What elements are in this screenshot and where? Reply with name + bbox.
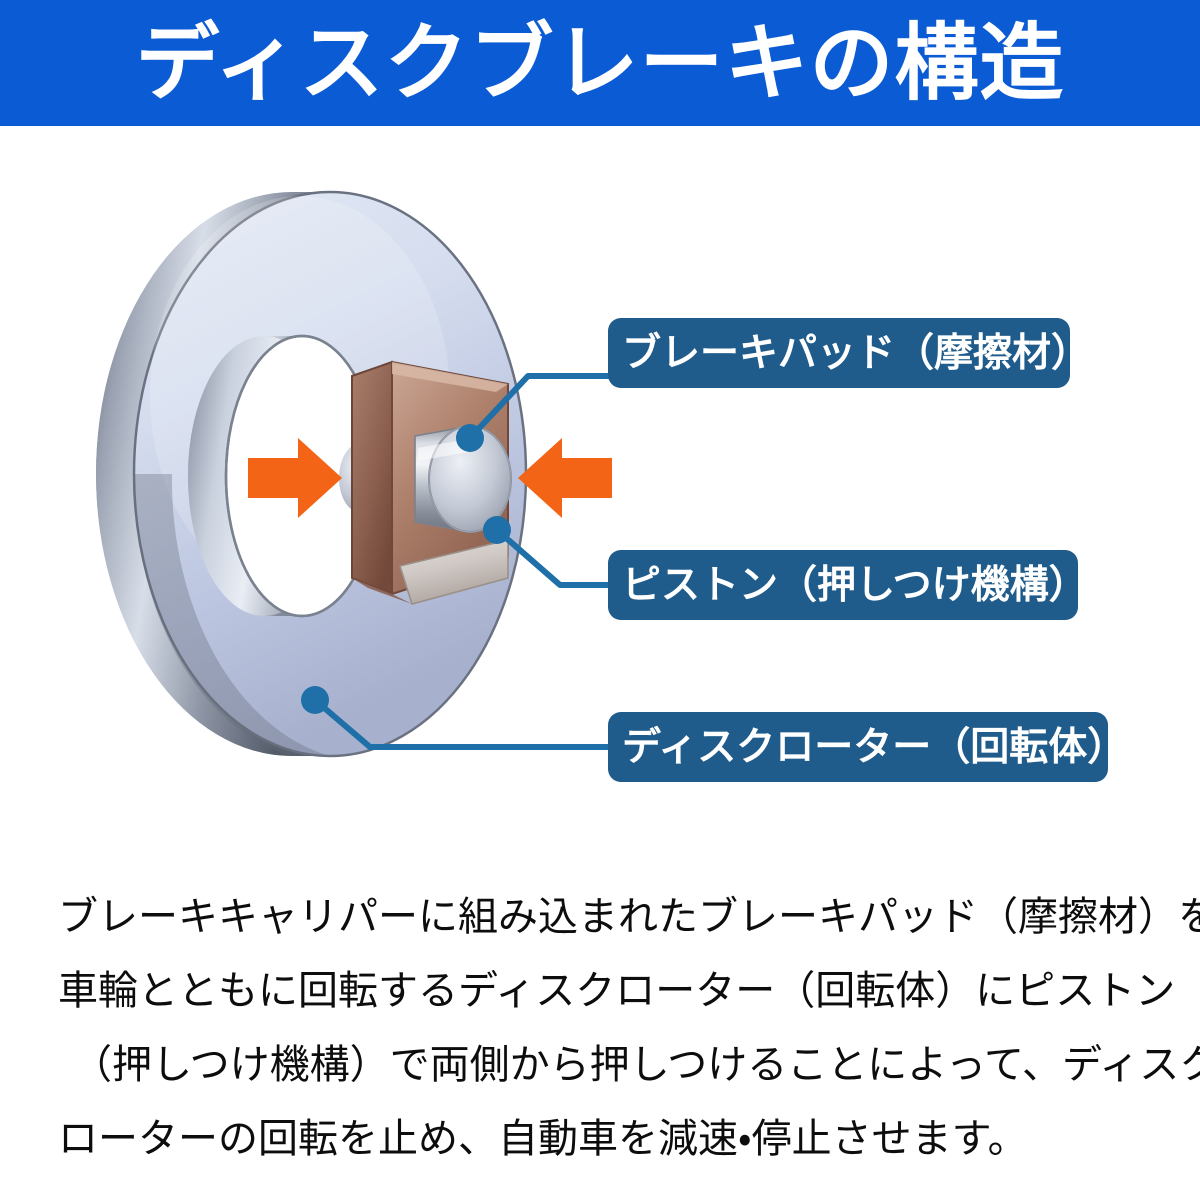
callout-label-brake-pad-text: ブレーキパッド（摩擦材） — [622, 334, 1090, 373]
callout-label-disc-rotor[interactable]: ディスクローター（回転体） — [608, 712, 1108, 782]
description-line-2: 車輪とともに回転するディスクローター（回転体）にピストン — [58, 954, 1158, 1028]
callout-label-disc-rotor-text: ディスクローター（回転体） — [622, 728, 1126, 767]
description-line-4: ローターの回転を止め、自動車を減速・停止させます。 — [58, 1102, 1158, 1176]
header-bar: ディスクブレーキの構造 — [0, 0, 1200, 126]
page-title: ディスクブレーキの構造 — [135, 21, 1064, 105]
callout-label-brake-pad[interactable]: ブレーキパッド（摩擦材） — [608, 318, 1070, 388]
callout-label-piston[interactable]: ピストン（押しつけ機構） — [608, 550, 1078, 620]
description-line-1: ブレーキキャリパーに組み込まれたブレーキパッド（摩擦材）を — [58, 880, 1158, 954]
description-line-3: （押しつけ機構）で両側から押しつけることによって、ディスク — [58, 1028, 1158, 1102]
callout-label-piston-text: ピストン（押しつけ機構） — [622, 566, 1088, 605]
description-paragraph: ブレーキキャリパーに組み込まれたブレーキパッド（摩擦材）を 車輪とともに回転する… — [58, 880, 1158, 1176]
force-arrow-right — [518, 438, 612, 518]
